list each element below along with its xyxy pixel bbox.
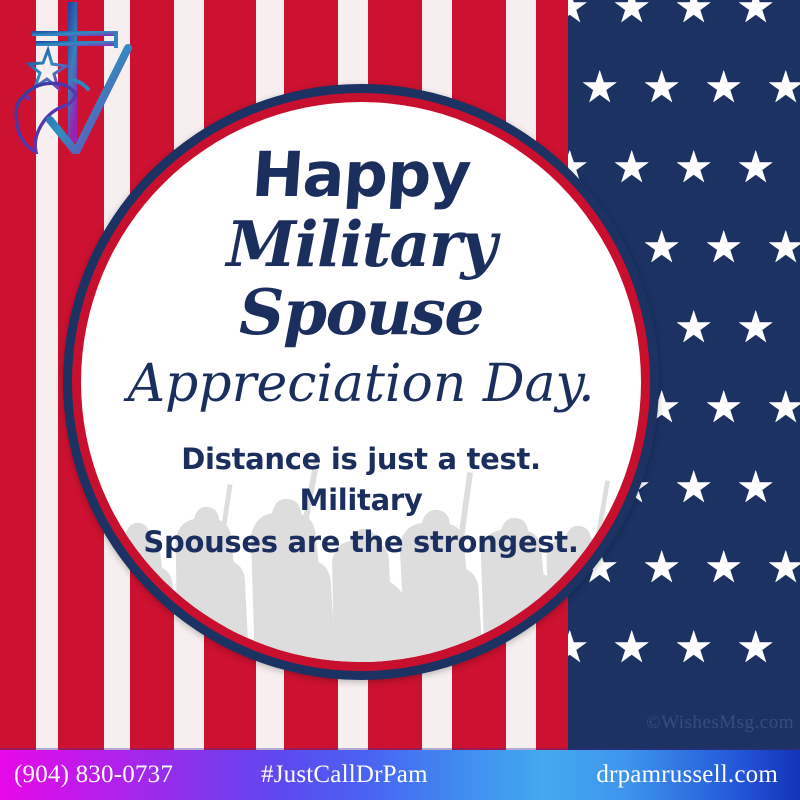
watermark-text: ©WishesMsg.com xyxy=(646,712,794,734)
footer-bar: (904) 830-0737 #JustCallDrPam drpamrusse… xyxy=(0,750,800,800)
medallion-face: Happy Military Spouse Appreciation Day. … xyxy=(81,102,641,662)
five-point-star-icon: ★ xyxy=(580,66,619,110)
five-point-star-icon: ★ xyxy=(674,146,713,190)
five-point-star-icon: ★ xyxy=(736,306,775,350)
five-point-star-icon: ★ xyxy=(736,146,775,190)
five-point-star-icon: ★ xyxy=(766,546,800,590)
five-point-star-icon: ★ xyxy=(704,546,743,590)
headline-happy: Happy xyxy=(113,144,609,206)
footer-website-link[interactable]: drpamrussell.com xyxy=(596,761,778,789)
subtext-line-2: Spouses are the strongest. xyxy=(121,522,601,563)
five-point-star-icon: ★ xyxy=(612,0,651,30)
five-point-star-icon: ★ xyxy=(766,66,800,110)
headline-military-spouse: Military Spouse xyxy=(115,210,607,346)
five-point-star-icon: ★ xyxy=(674,626,713,670)
footer-hashtag[interactable]: #JustCallDrPam xyxy=(261,761,428,789)
footer-phone-number[interactable]: (904) 830-0737 xyxy=(14,761,173,789)
subtext-line-1: Distance is just a test. Military xyxy=(121,439,601,521)
five-point-star-icon: ★ xyxy=(674,306,713,350)
cross-dove-star-logo-icon xyxy=(14,2,146,154)
headline-appreciation-day: Appreciation Day. xyxy=(115,356,607,413)
subtext-block: Distance is just a test. Military Spouse… xyxy=(115,439,607,563)
five-point-star-icon: ★ xyxy=(736,0,775,30)
five-point-star-icon: ★ xyxy=(642,66,681,110)
five-point-star-icon: ★ xyxy=(704,66,743,110)
five-point-star-icon: ★ xyxy=(704,226,743,270)
five-point-star-icon: ★ xyxy=(674,0,713,30)
medallion-red-ring: Happy Military Spouse Appreciation Day. … xyxy=(72,93,650,671)
five-point-star-icon: ★ xyxy=(704,386,743,430)
medallion-navy-ring: Happy Military Spouse Appreciation Day. … xyxy=(63,84,659,680)
five-point-star-icon: ★ xyxy=(766,386,800,430)
five-point-star-icon: ★ xyxy=(642,226,681,270)
five-point-star-icon: ★ xyxy=(766,226,800,270)
five-point-star-icon: ★ xyxy=(736,626,775,670)
five-point-star-icon: ★ xyxy=(674,466,713,510)
headline-block: Happy Military Spouse Appreciation Day. … xyxy=(81,144,641,563)
five-point-star-icon: ★ xyxy=(568,0,589,30)
five-point-star-icon: ★ xyxy=(642,546,681,590)
five-point-star-icon: ★ xyxy=(736,466,775,510)
poster-canvas: ★★★★★★★★★★★★★★★★★★★★★★★★★★★★★★★★★★★★ ©Wi… xyxy=(0,0,800,800)
